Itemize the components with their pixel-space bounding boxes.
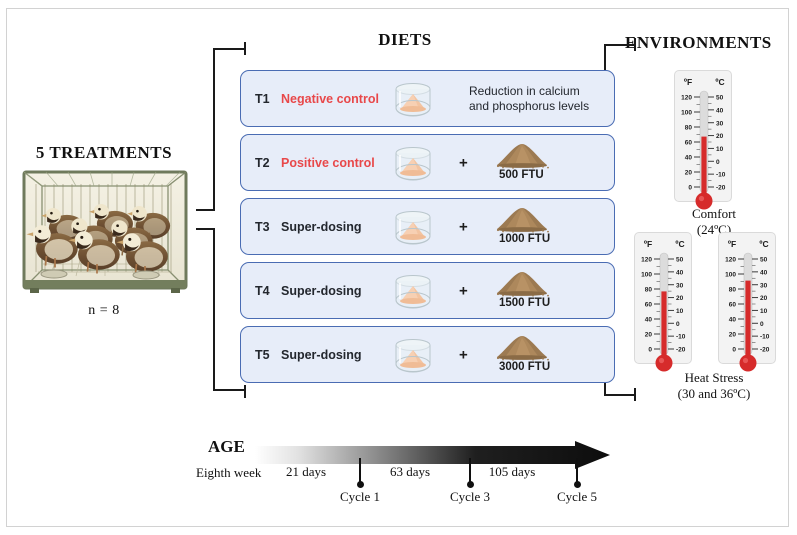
enzyme-dose-label: 500 FTU	[499, 169, 544, 181]
diet-name-label: Super-dosing	[281, 348, 362, 362]
diet-name-label: Positive control	[281, 156, 375, 170]
svg-text:ºF: ºF	[644, 239, 652, 249]
environment-caption-line1: Heat Stress	[685, 370, 744, 385]
svg-text:100: 100	[681, 110, 692, 117]
svg-text:40: 40	[676, 269, 684, 276]
timeline-cycle-label: Cycle 1	[340, 489, 380, 505]
feed-dish-icon	[389, 208, 437, 248]
feed-dish-icon	[389, 336, 437, 376]
svg-text:ºF: ºF	[684, 77, 692, 87]
enzyme-powder	[491, 141, 553, 171]
enzyme-dose-label: 3000 FTU	[499, 361, 550, 373]
environment-caption-heat-stress: Heat Stress(30 and 36ºC)	[678, 370, 751, 403]
enzyme-powder-icon	[491, 333, 553, 363]
feed-dish-icon	[389, 272, 437, 312]
enzyme-dose-label: 1000 FTU	[499, 233, 550, 245]
environments-heading: ENVIRONMENTS	[625, 33, 772, 53]
svg-text:20: 20	[760, 295, 768, 302]
thermometer-comfort-1: ºFºC12010080604020050403020100-10-20	[674, 70, 732, 202]
diet-row-t2[interactable]: T2Positive control+500 FTU	[240, 134, 615, 191]
svg-text:50: 50	[716, 95, 724, 102]
svg-text:-20: -20	[760, 347, 770, 354]
timeline-dot	[467, 481, 474, 488]
diets-heading: DIETS	[378, 30, 432, 50]
svg-text:0: 0	[732, 347, 736, 354]
quail-cage-icon	[22, 168, 188, 296]
quail-cage-illustration	[22, 168, 188, 296]
thermometer-icon: ºFºC12010080604020050403020100-10-20	[635, 233, 693, 381]
svg-text:-20: -20	[676, 347, 686, 354]
svg-text:30: 30	[760, 282, 768, 289]
diet-row-t4[interactable]: T4Super-dosing+1500 FTU	[240, 262, 615, 319]
diet-code-label: T2	[255, 156, 270, 170]
diet-row-t3[interactable]: T3Super-dosing+1000 FTU	[240, 198, 615, 255]
timeline-cycle-label: Cycle 3	[450, 489, 490, 505]
diet-code-label: T3	[255, 220, 270, 234]
svg-text:20: 20	[685, 170, 693, 177]
enzyme-powder	[491, 269, 553, 299]
svg-text:60: 60	[729, 302, 737, 309]
diet-note: Reduction in calciumand phosphorus level…	[469, 84, 589, 114]
diet-name-label: Negative control	[281, 92, 379, 106]
svg-text:40: 40	[729, 317, 737, 324]
timeline-days-label: 21 days	[286, 464, 326, 480]
svg-text:20: 20	[729, 332, 737, 339]
svg-text:0: 0	[648, 347, 652, 354]
svg-text:120: 120	[725, 257, 736, 264]
plus-symbol: +	[459, 218, 468, 235]
svg-text:ºC: ºC	[675, 239, 684, 249]
svg-text:0: 0	[716, 159, 720, 166]
svg-text:80: 80	[645, 287, 653, 294]
svg-text:60: 60	[645, 302, 653, 309]
svg-text:0: 0	[688, 185, 692, 192]
svg-text:40: 40	[716, 107, 724, 114]
svg-text:100: 100	[641, 272, 652, 279]
thermometer-icon: ºFºC12010080604020050403020100-10-20	[719, 233, 777, 381]
enzyme-powder-icon	[491, 205, 553, 235]
svg-text:60: 60	[685, 140, 693, 147]
timeline-stem	[359, 458, 361, 483]
svg-text:ºC: ºC	[715, 77, 724, 87]
enzyme-powder	[491, 333, 553, 363]
environment-caption-line2: (30 and 36ºC)	[678, 386, 751, 401]
figure-canvas: DIETS ENVIRONMENTS 5 TREATMENTS n = 8	[0, 0, 797, 535]
timeline-dot	[574, 481, 581, 488]
svg-text:30: 30	[716, 120, 724, 127]
timeline-dot	[357, 481, 364, 488]
enzyme-powder	[491, 205, 553, 235]
feed-dish	[389, 80, 437, 120]
diet-code-label: T5	[255, 348, 270, 362]
timeline-cycle-label: Cycle 5	[557, 489, 597, 505]
feed-dish	[389, 336, 437, 376]
svg-text:0: 0	[760, 321, 764, 328]
svg-text:ºF: ºF	[728, 239, 736, 249]
diet-name-label: Super-dosing	[281, 220, 362, 234]
plus-symbol: +	[459, 282, 468, 299]
enzyme-dose-label: 1500 FTU	[499, 297, 550, 309]
svg-text:120: 120	[641, 257, 652, 264]
svg-text:10: 10	[716, 146, 724, 153]
sample-size-label: n = 8	[88, 303, 119, 319]
age-label: AGE	[208, 437, 245, 457]
feed-dish	[389, 208, 437, 248]
svg-text:50: 50	[760, 257, 768, 264]
treatments-heading: 5 TREATMENTS	[36, 143, 172, 163]
thermometer-heat-stress-1: ºFºC12010080604020050403020100-10-20	[634, 232, 692, 364]
timeline-stem	[576, 458, 578, 483]
svg-text:10: 10	[760, 308, 768, 315]
svg-text:-10: -10	[676, 334, 686, 341]
svg-text:20: 20	[716, 133, 724, 140]
timeline-stem	[469, 458, 471, 483]
enzyme-powder-icon	[491, 269, 553, 299]
timeline-days-label: 105 days	[489, 464, 536, 480]
svg-text:30: 30	[676, 282, 684, 289]
svg-text:-20: -20	[716, 185, 726, 192]
thermometer-icon: ºFºC12010080604020050403020100-10-20	[675, 71, 733, 219]
svg-text:20: 20	[676, 295, 684, 302]
feed-dish-icon	[389, 144, 437, 184]
timeline-days-label: 63 days	[390, 464, 430, 480]
timeline-start-label: Eighth week	[196, 465, 261, 481]
svg-text:40: 40	[685, 155, 693, 162]
svg-text:120: 120	[681, 95, 692, 102]
diet-code-label: T4	[255, 284, 270, 298]
svg-text:100: 100	[725, 272, 736, 279]
feed-dish-icon	[389, 80, 437, 120]
plus-symbol: +	[459, 346, 468, 363]
svg-text:80: 80	[685, 125, 693, 132]
enzyme-powder-icon	[491, 141, 553, 171]
feed-dish	[389, 272, 437, 312]
svg-text:50: 50	[676, 257, 684, 264]
svg-text:-10: -10	[716, 172, 726, 179]
svg-text:10: 10	[676, 308, 684, 315]
thermometer-heat-stress-2: ºFºC12010080604020050403020100-10-20	[718, 232, 776, 364]
svg-text:80: 80	[729, 287, 737, 294]
diet-row-t5[interactable]: T5Super-dosing+3000 FTU	[240, 326, 615, 383]
environment-caption-line1: Comfort	[692, 206, 736, 221]
svg-text:ºC: ºC	[759, 239, 768, 249]
diet-row-t1[interactable]: T1Negative controlReduction in calciuman…	[240, 70, 615, 127]
svg-text:20: 20	[645, 332, 653, 339]
svg-text:-10: -10	[760, 334, 770, 341]
plus-symbol: +	[459, 154, 468, 171]
feed-dish	[389, 144, 437, 184]
diet-name-label: Super-dosing	[281, 284, 362, 298]
svg-text:40: 40	[760, 269, 768, 276]
diet-code-label: T1	[255, 92, 270, 106]
svg-text:0: 0	[676, 321, 680, 328]
svg-text:40: 40	[645, 317, 653, 324]
